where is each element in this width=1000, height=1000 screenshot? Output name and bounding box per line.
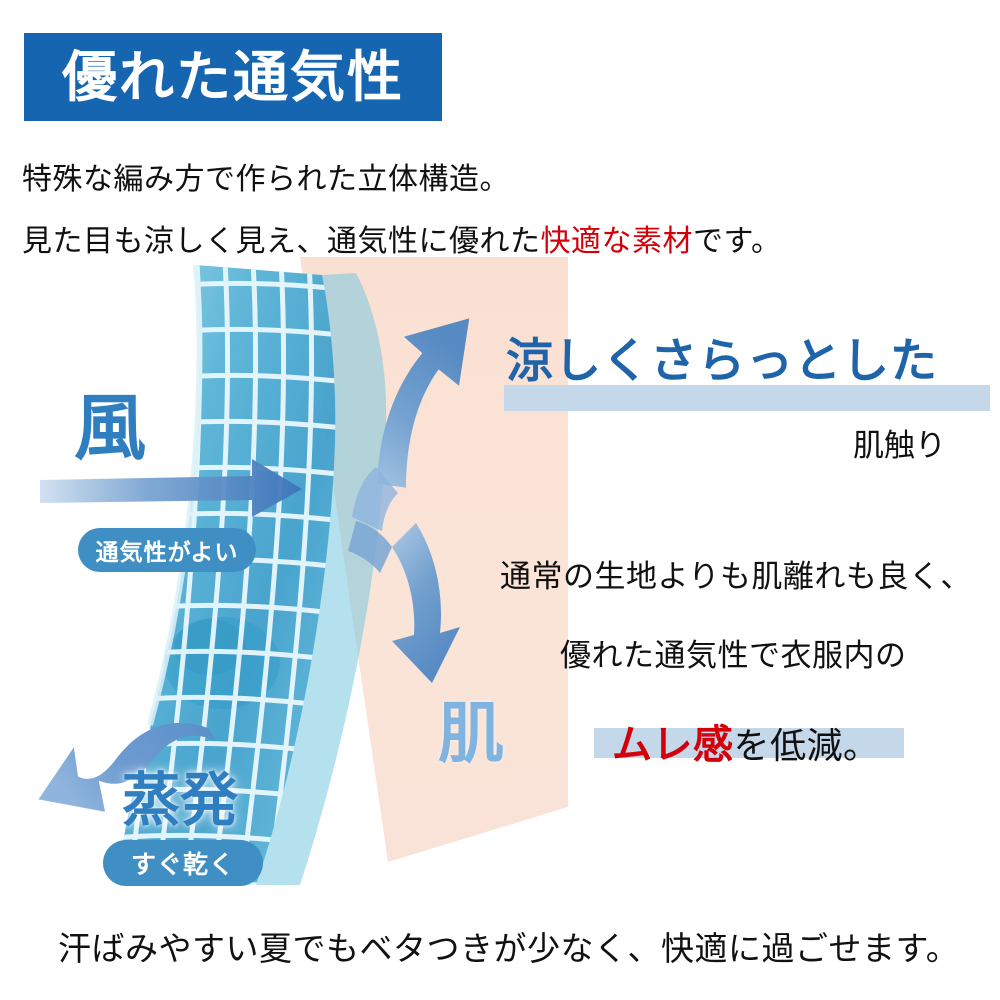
body-line-2: 優れた通気性で衣服内の — [560, 630, 907, 675]
title-banner: 優れた通気性 — [24, 33, 442, 121]
body-line-1: 通常の生地よりも肌離れも良く、 — [500, 551, 972, 596]
evaporation-label: 蒸発 — [122, 772, 238, 830]
intro-line-2-after: です。 — [693, 225, 782, 258]
infographic-page: 優れた通気性 特殊な編み方で作られた立体構造。 見た目も涼しく見え、通気性に優れ… — [0, 0, 1000, 1000]
headline-touch: 肌触り — [853, 420, 946, 465]
intro-line-2: 見た目も涼しく見え、通気性に優れた快適な素材です。 — [22, 216, 782, 260]
intro-line-1: 特殊な編み方で作られた立体構造。 — [22, 154, 510, 198]
page-title: 優れた通気性 — [62, 50, 404, 105]
body-line-3-emphasis: ムレ感 — [612, 722, 734, 767]
headline-cool: 涼しくさらっとした — [506, 337, 938, 389]
intro-line-2-before: 見た目も涼しく見え、通気性に優れた — [22, 225, 541, 258]
badge-breathable: 通気性がよい — [78, 528, 256, 572]
body-line-3-rest: を低減。 — [734, 726, 880, 766]
bottom-caption: 汗ばみやすい夏でもベタつきが少なく、快適に過ごせます。 — [58, 922, 959, 970]
intro-line-2-emphasis: 快適な素材 — [541, 225, 694, 258]
headline-highlight-band — [504, 385, 990, 411]
badge-quick-dry: すぐ乾く — [103, 840, 263, 886]
skin-label: 肌 — [438, 700, 504, 766]
wind-label: 風 — [74, 393, 146, 465]
body-line-3: ムレ感を低減。 — [612, 712, 880, 770]
